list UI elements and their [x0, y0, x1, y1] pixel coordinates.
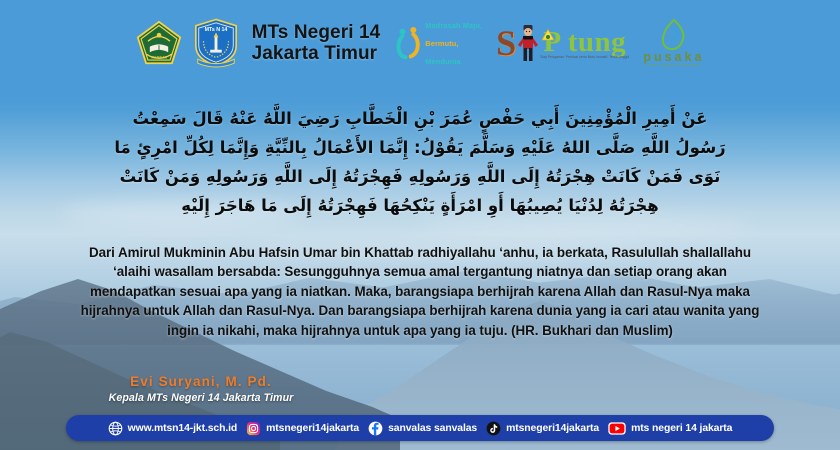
instagram-icon: [246, 421, 261, 436]
social-label-website: www.mtsn14-jkt.sch.id: [128, 423, 238, 434]
social-media-bar: www.mtsn14-jkt.sch.id mtsnegeri14jakarta: [66, 415, 774, 441]
arabic-line-4: هِجْرَتُهُ لِدُنْيَا يُصِيبُهَا أَوِ امْ…: [40, 191, 800, 220]
social-item-website[interactable]: www.mtsn14-jkt.sch.id: [108, 421, 238, 436]
social-label-youtube: mts negeri 14 jakarta: [631, 423, 732, 434]
social-label-instagram: mtsnegeri14jakarta: [266, 423, 359, 434]
page-title: MTs Negeri 14 Jakarta Timur: [252, 22, 381, 64]
youtube-icon: [608, 421, 626, 436]
signature-name: Evi Suryani, M. Pd.: [56, 374, 346, 390]
pusaka-logo: pusaka pusat layanan keagamaan: [643, 19, 704, 67]
social-item-facebook[interactable]: sanvalas sanvalas: [368, 421, 477, 436]
signature-block: Evi Suryani, M. Pd. Kepala MTs Negeri 14…: [56, 374, 346, 405]
kemenag-logo: KEMENAG: [136, 20, 182, 66]
svg-text:KEMENAG: KEMENAG: [151, 56, 168, 60]
social-item-instagram[interactable]: mtsnegeri14jakarta: [246, 421, 359, 436]
poster-canvas: KEMENAG MTs N 14 MTs Negeri 14 Jakarta T…: [0, 0, 840, 450]
arabic-line-1: عَنْ أَمِيرِ الْمُؤْمِنِينَ أَبِي حَفْصٍ…: [40, 104, 800, 133]
header-logo-bar: KEMENAG MTs N 14 MTs Negeri 14 Jakarta T…: [0, 0, 840, 86]
pusaka-tagline: pusat layanan keagamaan: [647, 63, 701, 67]
madrasah-tagline-line-1: Madrasah Maju,: [425, 21, 482, 30]
si-pitung-logo: S P tung Siap Pelayanan, Prestasi serta …: [496, 23, 629, 63]
si-pitung-tagline: Siap Pelayanan, Prestasi serta Mutu Inov…: [540, 55, 629, 59]
social-label-tiktok: mtsnegeri14jakarta: [506, 423, 599, 434]
madrasah-tagline-line-3: Mendunia: [425, 57, 482, 66]
hadith-translation-text: Dari Amirul Mukminin Abu Hafsin Umar bin…: [78, 243, 762, 340]
social-item-youtube[interactable]: mts negeri 14 jakarta: [608, 421, 732, 436]
si-pitung-letter-s: S: [496, 26, 516, 60]
madrasah-tagline-line-2: Bermutu,: [425, 39, 482, 48]
tiktok-icon: [486, 421, 501, 436]
arabic-line-3: نَوَى فَمَنْ كَانَتْ هِجْرَتُهُ إِلَى ال…: [40, 162, 800, 191]
si-pitung-mascot-icon: [517, 23, 539, 63]
globe-icon: [108, 421, 123, 436]
madrasah-maju-tagline: Madrasah Maju, Bermutu, Mendunia: [425, 12, 482, 75]
pusaka-wordmark: pusaka: [643, 51, 704, 63]
pusaka-leaf-icon: [660, 19, 688, 51]
hadith-arabic-text: عَنْ أَمِيرِ الْمُؤْمِنِينَ أَبِي حَفْصٍ…: [40, 104, 800, 220]
mts-negeri-14-logo: MTs N 14: [192, 18, 240, 68]
signature-role: Kepala MTs Negeri 14 Jakarta Timur: [56, 391, 346, 405]
madrasah-maju-logo: Madrasah Maju, Bermutu, Mendunia: [396, 12, 482, 75]
social-label-facebook: sanvalas sanvalas: [388, 423, 477, 434]
svg-text:MTs N 14: MTs N 14: [204, 27, 227, 33]
arabic-line-2: رَسُولُ اللَّهِ صَلَّى اللهُ عَلَيْهِ وَ…: [40, 133, 800, 162]
si-pitung-wordmark: P tung: [543, 28, 626, 56]
facebook-icon: [368, 421, 383, 436]
social-item-tiktok[interactable]: mtsnegeri14jakarta: [486, 421, 599, 436]
madrasah-maju-icon: [396, 26, 422, 60]
si-pitung-bulb-icon: [541, 29, 555, 45]
